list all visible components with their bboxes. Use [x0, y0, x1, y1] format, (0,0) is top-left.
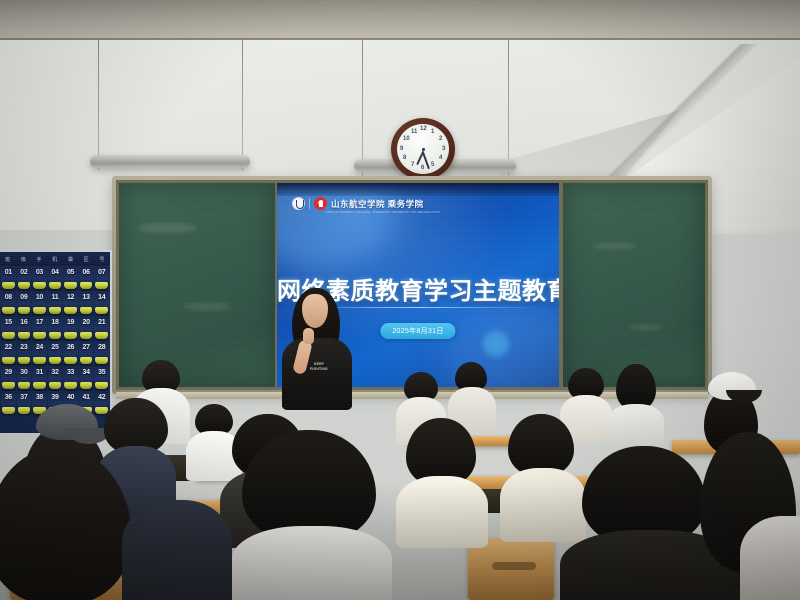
logo-divider	[309, 198, 310, 209]
pocket-cell: 02	[17, 267, 32, 291]
pocket-number: 19	[67, 319, 74, 326]
pocket-cell: 33	[63, 367, 78, 391]
pocket-cell: 07	[94, 267, 109, 291]
clock-numeral: 4	[439, 155, 442, 161]
pocket-number: 07	[98, 269, 105, 276]
pocket-cell: 11	[48, 292, 63, 316]
pocket-number: 02	[20, 269, 27, 276]
pocket-cell: 27	[79, 342, 94, 366]
clock-numeral: 2	[439, 136, 442, 142]
pocket-header-cell: 级	[21, 256, 26, 263]
pocket-number: 37	[20, 394, 27, 401]
pocket-cell: 23	[17, 342, 32, 366]
pocket-number: 40	[67, 394, 74, 401]
pocket-cell: 12	[63, 292, 78, 316]
pocket-cell: 21	[94, 317, 109, 341]
pocket-number: 16	[20, 319, 27, 326]
pocket-chart-header: 班 级 手 机 袋 区 号	[0, 252, 110, 266]
clock-numeral: 1	[431, 129, 434, 135]
ceiling-light-left	[70, 40, 250, 170]
pocket-cell: 19	[63, 317, 78, 341]
ceiling-beam	[0, 0, 800, 42]
pocket-cell: 31	[32, 367, 47, 391]
pocket-cell: 18	[48, 317, 63, 341]
pocket-cell: 29	[1, 367, 16, 391]
teacher-torso	[282, 338, 352, 410]
board-inner-frame: 山东航空学院 乘务学院 CABIN ATTENDANT COLLEGE, SHA…	[116, 180, 708, 390]
pocket-number: 15	[5, 319, 12, 326]
student-foreground	[232, 430, 392, 600]
student	[396, 418, 488, 544]
pocket-cell: 28	[94, 342, 109, 366]
pocket-cell: 14	[94, 292, 109, 316]
classroom-photo: 12 1 2 3 4 5 6 7 8 9 10 11	[0, 0, 800, 600]
pocket-number: 04	[51, 269, 58, 276]
pocket-number: 29	[5, 369, 12, 376]
pocket-number: 21	[98, 319, 105, 326]
pocket-number: 25	[51, 344, 58, 351]
teacher-shirt-line1: KEEP	[302, 362, 336, 366]
pocket-cell: 25	[48, 342, 63, 366]
pocket-cell: 16	[17, 317, 32, 341]
clock-center-pin	[422, 148, 425, 151]
pocket-cell: 26	[63, 342, 78, 366]
chalkboard-right-panel	[563, 183, 705, 387]
blackboard-assembly: 山东航空学院 乘务学院 CABIN ATTENDANT COLLEGE, SHA…	[112, 176, 712, 394]
pocket-number: 10	[36, 294, 43, 301]
pocket-number: 24	[36, 344, 43, 351]
pocket-number: 30	[20, 369, 27, 376]
chalkboard-left-panel	[119, 183, 275, 387]
pocket-cell: 22	[1, 342, 16, 366]
pocket-number: 27	[83, 344, 90, 351]
slide-org-name: 山东航空学院 乘务学院	[331, 198, 424, 210]
pocket-cell: 17	[32, 317, 47, 341]
pocket-cell: 34	[79, 367, 94, 391]
pocket-number: 34	[83, 369, 90, 376]
pocket-number: 41	[83, 394, 90, 401]
clock-numeral: 5	[431, 162, 434, 168]
pocket-number: 08	[5, 294, 12, 301]
pocket-number: 03	[36, 269, 43, 276]
pocket-cell: 10	[32, 292, 47, 316]
clock-numeral: 6	[421, 165, 424, 171]
pocket-number: 09	[20, 294, 27, 301]
pocket-cell: 09	[17, 292, 32, 316]
pocket-header-cell: 班	[5, 256, 10, 263]
pocket-number: 31	[36, 369, 43, 376]
wall-clock: 12 1 2 3 4 5 6 7 8 9 10 11	[391, 118, 455, 180]
pocket-number: 18	[51, 319, 58, 326]
pocket-cell: 01	[1, 267, 16, 291]
pocket-cell: 03	[32, 267, 47, 291]
pocket-number: 39	[51, 394, 58, 401]
pocket-header-cell: 机	[52, 256, 57, 263]
teacher-shirt-line2: FIGHTING	[302, 367, 336, 371]
student-foreground	[122, 500, 232, 600]
pocket-cell: 24	[32, 342, 47, 366]
pocket-header-cell: 号	[99, 256, 104, 263]
pocket-number: 14	[98, 294, 105, 301]
clock-numeral: 9	[400, 146, 403, 152]
pocket-header-cell: 袋	[68, 256, 73, 263]
pocket-number: 13	[83, 294, 90, 301]
pocket-number: 23	[20, 344, 27, 351]
student-foreground	[0, 448, 136, 600]
teacher-hand	[303, 328, 314, 344]
pocket-header-cell: 区	[84, 256, 89, 263]
clock-numeral: 10	[403, 136, 410, 142]
pocket-cell: 05	[63, 267, 78, 291]
slide-logo-group: 山东航空学院 乘务学院	[292, 197, 424, 210]
pocket-cell: 08	[1, 292, 16, 316]
pocket-number: 33	[67, 369, 74, 376]
clock-numeral: 7	[411, 162, 414, 168]
pocket-number: 11	[52, 294, 59, 301]
clock-numeral: 11	[411, 129, 417, 135]
pocket-number: 12	[67, 294, 74, 301]
pocket-cell: 06	[79, 267, 94, 291]
clock-numeral: 8	[403, 155, 406, 161]
slide-header-band	[277, 183, 559, 196]
pocket-number: 36	[5, 394, 12, 401]
pocket-number: 22	[5, 344, 12, 351]
pocket-number: 17	[36, 319, 43, 326]
pocket-number: 01	[5, 269, 12, 276]
student-foreground	[700, 432, 800, 600]
student	[608, 364, 664, 442]
slide-org-subtitle: CABIN ATTENDANT COLLEGE, SHANDONG UNIVER…	[325, 210, 440, 214]
slide-date-badge: 2025年8月31日	[380, 323, 455, 339]
pocket-cell: 32	[48, 367, 63, 391]
pocket-cell: 30	[17, 367, 32, 391]
clock-numeral: 12	[420, 126, 427, 132]
pocket-number: 28	[98, 344, 105, 351]
pocket-number: 26	[67, 344, 74, 351]
clock-numeral: 3	[442, 146, 445, 152]
pocket-number: 32	[51, 369, 58, 376]
pocket-number: 35	[98, 369, 105, 376]
pocket-cell: 04	[48, 267, 63, 291]
pocket-number: 05	[67, 269, 74, 276]
clock-face: 12 1 2 3 4 5 6 7 8 9 10 11	[397, 124, 449, 174]
pocket-cell: 35	[94, 367, 109, 391]
pocket-header-cell: 手	[37, 256, 42, 263]
pocket-number: 06	[83, 269, 90, 276]
pocket-cell: 20	[79, 317, 94, 341]
teacher: KEEP FIGHTING	[278, 288, 362, 408]
pocket-cell: 36	[1, 392, 16, 416]
university-seal-icon	[292, 197, 305, 210]
pocket-number: 38	[36, 394, 43, 401]
pocket-number: 20	[83, 319, 90, 326]
college-emblem-icon	[314, 197, 327, 210]
pocket-cell: 15	[1, 317, 16, 341]
pocket-cell: 13	[79, 292, 94, 316]
